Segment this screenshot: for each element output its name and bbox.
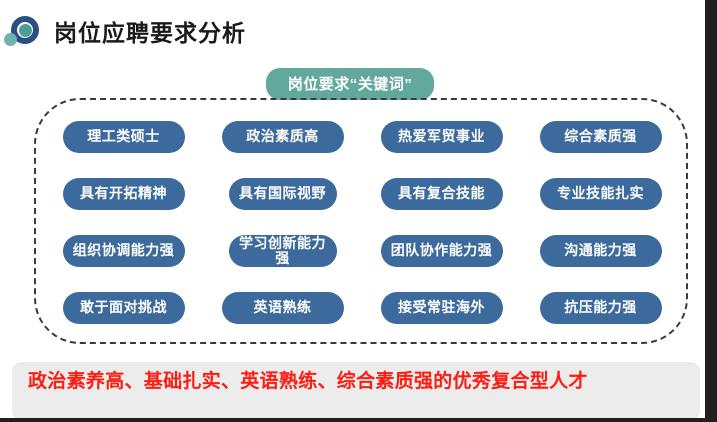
right-edge-strip: [705, 0, 717, 422]
keyword-pill[interactable]: 具有开拓精神: [63, 178, 185, 210]
bottom-edge-strip: [0, 418, 717, 422]
conclusion-text: 政治素养高、基础扎实、英语熟练、综合素质强的优秀复合型人才: [28, 368, 688, 396]
keyword-pill[interactable]: 组织协调能力强: [63, 235, 185, 267]
keyword-pill[interactable]: 综合素质强: [540, 121, 662, 153]
slide-canvas: 岗位应聘要求分析 岗位要求“关键词” 理工类硕士政治素质高热爱军贸事业综合素质强…: [0, 0, 717, 422]
page-title: 岗位应聘要求分析: [54, 14, 246, 48]
keyword-pill[interactable]: 专业技能扎实: [540, 178, 662, 210]
conclusion-panel: 政治素养高、基础扎实、英语熟练、综合素质强的优秀复合型人才: [12, 362, 700, 420]
keyword-pill[interactable]: 接受常驻海外: [381, 292, 503, 324]
target-circle-icon-accent-dot: [4, 33, 17, 46]
slide-header: 岗位应聘要求分析: [0, 8, 700, 54]
keyword-pill[interactable]: 政治素质高: [222, 121, 344, 153]
keyword-pill[interactable]: 敢于面对挑战: [63, 292, 185, 324]
keyword-pill[interactable]: 具有国际视野: [229, 178, 337, 210]
keyword-pill[interactable]: 沟通能力强: [540, 235, 662, 267]
target-circle-icon-core: [19, 24, 32, 37]
keyword-pill[interactable]: 热爱军贸事业: [381, 121, 503, 153]
keyword-pill[interactable]: 理工类硕士: [63, 121, 185, 153]
keyword-pill[interactable]: 抗压能力强: [540, 292, 662, 324]
keyword-banner-row: 岗位要求“关键词”: [0, 68, 700, 100]
keyword-pill[interactable]: 英语熟练: [222, 292, 344, 324]
keyword-pill[interactable]: 具有复合技能: [381, 178, 503, 210]
target-circle-icon: [2, 11, 46, 51]
keyword-pill[interactable]: 学习创新能力强: [229, 235, 337, 267]
keyword-banner-label: 岗位要求“关键词”: [266, 68, 435, 100]
keyword-pill[interactable]: 团队协作能力强: [381, 235, 503, 267]
keyword-pill-grid: 理工类硕士政治素质高热爱军贸事业综合素质强具有开拓精神具有国际视野具有复合技能专…: [44, 108, 680, 336]
